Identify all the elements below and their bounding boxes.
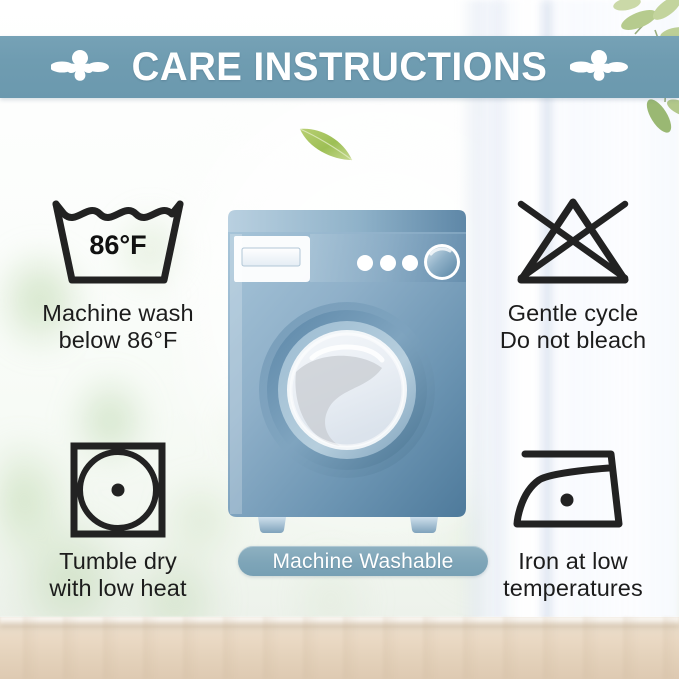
symbol-caption-machine-wash: Machine wash below 86°F: [8, 300, 228, 355]
washer-foot: [258, 517, 286, 533]
tumble-dry-square-circle-one-dot-icon: [8, 440, 228, 540]
wooden-table-surface: [0, 617, 679, 679]
washer-foot: [410, 517, 438, 533]
symbol-tumble-dry: Tumble dry with low heat: [8, 440, 228, 603]
symbol-iron: Iron at low temperatures: [468, 440, 678, 603]
wash-temperature-value: 86°F: [89, 230, 146, 260]
table-wood-grain: [0, 617, 679, 679]
care-instructions-infographic: CARE INSTRUCTIONS 86°F: [0, 0, 679, 679]
header-banner: CARE INSTRUCTIONS: [0, 36, 679, 98]
washer-control-button: [357, 255, 373, 271]
washer-control-button: [380, 255, 396, 271]
symbol-caption-do-not-bleach: Gentle cycle Do not bleach: [468, 300, 678, 355]
symbol-caption-iron: Iron at low temperatures: [468, 548, 678, 603]
symbol-machine-wash: 86°F Machine wash below 86°F: [8, 192, 228, 355]
wash-tub-icon: 86°F: [8, 192, 228, 292]
symbol-caption-tumble-dry: Tumble dry with low heat: [8, 548, 228, 603]
fleur-de-lis-ornament-icon: [51, 45, 109, 89]
page-title: CARE INSTRUCTIONS: [132, 47, 548, 87]
badge-label: Machine Washable: [272, 551, 453, 572]
fleur-de-lis-ornament-icon: [570, 45, 628, 89]
leaf-icon: [296, 122, 358, 166]
triangle-crossed-out-icon: [468, 192, 678, 292]
iron-one-dot-icon: [468, 440, 678, 540]
front-load-washing-machine-icon: [222, 200, 472, 545]
machine-washable-badge: Machine Washable: [238, 546, 488, 576]
washer-control-button: [402, 255, 418, 271]
symbol-do-not-bleach: Gentle cycle Do not bleach: [468, 192, 678, 355]
